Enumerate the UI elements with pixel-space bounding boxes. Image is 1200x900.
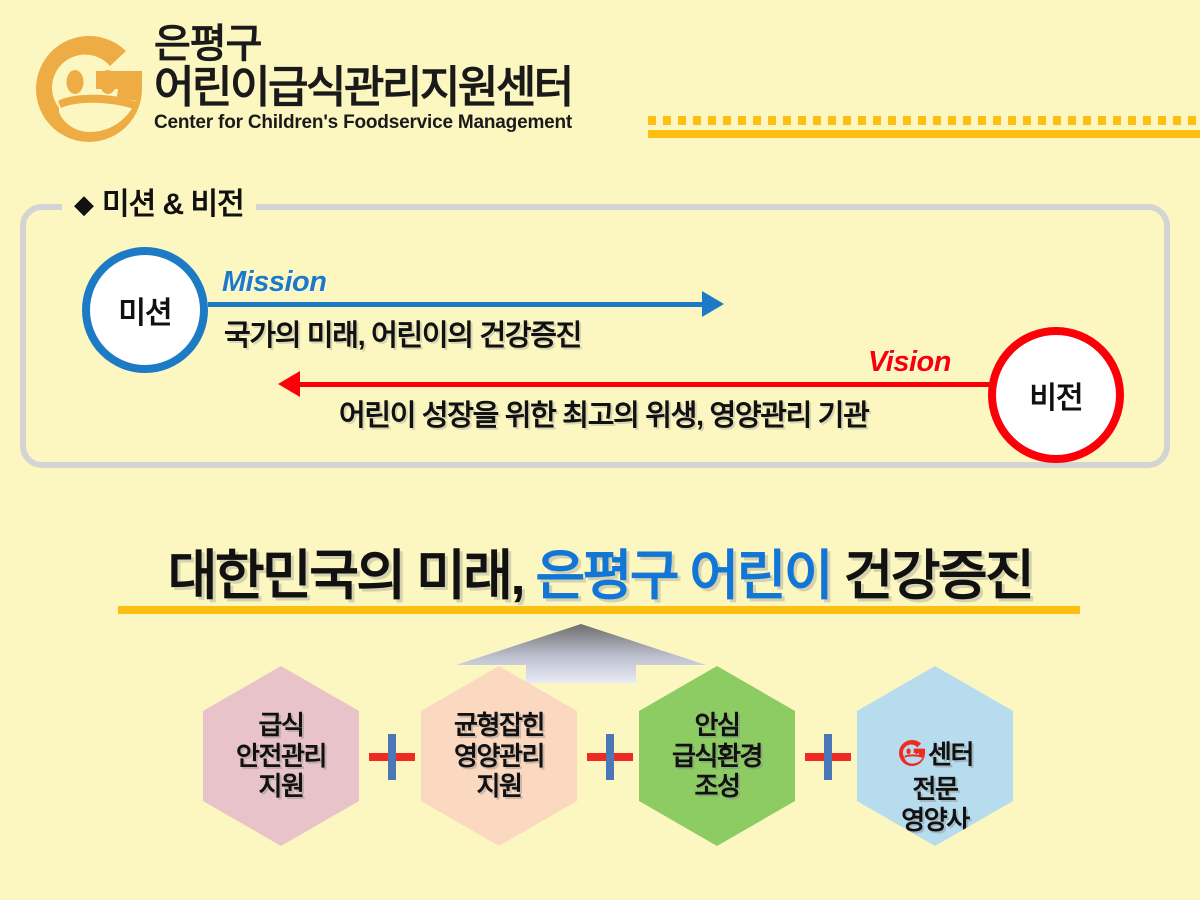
slide-canvas: 은평구 어린이급식관리지원센터 Center for Children's Fo… [0, 0, 1200, 900]
headline: 대한민국의 미래, 은평구 어린이 건강증진 [0, 531, 1200, 610]
solid-rule [648, 130, 1200, 138]
org-name-line2: 어린이급식관리지원센터 [154, 65, 644, 112]
vision-tag: Vision [868, 348, 951, 377]
organization-name: 은평구 어린이급식관리지원센터 Center for Children's Fo… [154, 24, 644, 134]
vision-arrow-head-icon [278, 371, 300, 397]
pillar-label-2: 균형잡힌 영양관리 지원 [454, 710, 544, 802]
pillar-label-3: 안심 급식환경 조성 [672, 710, 762, 802]
smiley-g-logo-icon [28, 28, 150, 150]
plus-operator-3 [805, 734, 851, 780]
headline-accent: 은평구 어린이 [535, 546, 831, 606]
mission-circle-label: 미션 [118, 288, 171, 332]
pillar-hexagon-2[interactable]: 균형잡힌 영양관리 지원 [421, 666, 577, 846]
headline-part2: 건강증진 [831, 546, 1032, 606]
organization-logo-block: 은평구 어린이급식관리지원센터 Center for Children's Fo… [24, 22, 644, 162]
mission-circle: 미션 [82, 247, 208, 373]
pillar-hexagon-1[interactable]: 급식 안전관리 지원 [203, 666, 359, 846]
vision-statement: 어린이 성장을 위한 최고의 위생, 영양관리 기관 [339, 392, 869, 434]
strategy-pillar-row: 급식 안전관리 지원 균형잡힌 영양관리 지원 안심 급식환경 조성 [0, 666, 1200, 856]
mission-tag: Mission [222, 268, 326, 297]
mission-arrow-head-icon [702, 291, 724, 317]
mission-statement: 국가의 미래, 어린이의 건강증진 [224, 312, 581, 354]
plus-operator-2 [587, 734, 633, 780]
plus-vertical-bar [824, 734, 832, 780]
smiley-g-logo-icon-small [897, 707, 927, 774]
vision-circle: 비전 [988, 327, 1124, 463]
pillar-hexagon-3[interactable]: 안심 급식환경 조성 [639, 666, 795, 846]
headline-part1: 대한민국의 미래, [168, 546, 536, 606]
mission-arrow-line [208, 302, 714, 307]
diamond-bullet-icon: ◆ [74, 183, 93, 225]
plus-vertical-bar [388, 734, 396, 780]
headline-underline [118, 606, 1080, 614]
org-name-line1: 은평구 [154, 24, 644, 65]
vision-arrow-line [300, 382, 1000, 387]
pillar-hexagon-4[interactable]: 센터 전문 영양사 [857, 666, 1013, 846]
plus-operator-1 [369, 734, 415, 780]
mission-vision-title: ◆미션 & 비전 [62, 183, 256, 225]
org-name-english: Center for Children's Foodservice Manage… [154, 112, 644, 134]
header-decorative-rule [648, 116, 1200, 140]
pillar-label-1: 급식 안전관리 지원 [236, 710, 326, 802]
mission-vision-title-label: 미션 & 비전 [102, 188, 244, 221]
plus-vertical-bar [606, 734, 614, 780]
vision-circle-label: 비전 [1029, 373, 1082, 417]
dashed-rule [648, 116, 1200, 125]
pillar-label-4: 센터 전문 영양사 [897, 676, 973, 835]
